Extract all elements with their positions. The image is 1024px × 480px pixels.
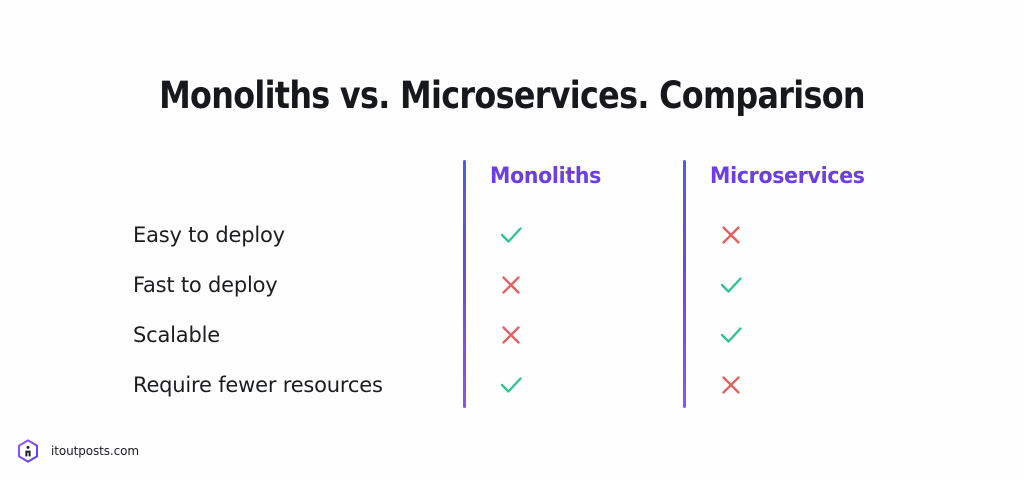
cross-icon [716, 220, 746, 250]
cell-monoliths [494, 318, 528, 352]
comparison-table: Monoliths Microservices Easy to deploy [0, 150, 1024, 408]
cross-icon [496, 320, 526, 350]
hexagon-logo-icon [16, 439, 40, 463]
cell-microservices [714, 368, 748, 402]
row-label: Easy to deploy [133, 223, 285, 247]
cell-monoliths [494, 368, 528, 402]
row-label: Scalable [133, 323, 220, 347]
cross-icon [496, 270, 526, 300]
comparison-infographic: Monoliths vs. Microservices. Comparison … [0, 0, 1024, 480]
table-row: Scalable [0, 310, 1024, 360]
table-row: Fast to deploy [0, 260, 1024, 310]
check-icon [716, 320, 746, 350]
column-header-monoliths: Monoliths [490, 164, 601, 189]
cell-monoliths [494, 268, 528, 302]
row-label: Require fewer resources [133, 373, 383, 397]
footer-branding: itoutposts.com [16, 439, 139, 463]
cell-monoliths [494, 218, 528, 252]
comparison-rows: Easy to deploy Fast to deploy [0, 210, 1024, 410]
check-icon [496, 220, 526, 250]
column-header-microservices: Microservices [710, 164, 865, 189]
check-icon [716, 270, 746, 300]
page-title: Monoliths vs. Microservices. Comparison [72, 74, 953, 117]
cell-microservices [714, 218, 748, 252]
cell-microservices [714, 318, 748, 352]
footer-site-label: itoutposts.com [51, 444, 139, 458]
row-label: Fast to deploy [133, 273, 278, 297]
table-row: Require fewer resources [0, 360, 1024, 410]
cross-icon [716, 370, 746, 400]
check-icon [496, 370, 526, 400]
table-row: Easy to deploy [0, 210, 1024, 260]
cell-microservices [714, 268, 748, 302]
